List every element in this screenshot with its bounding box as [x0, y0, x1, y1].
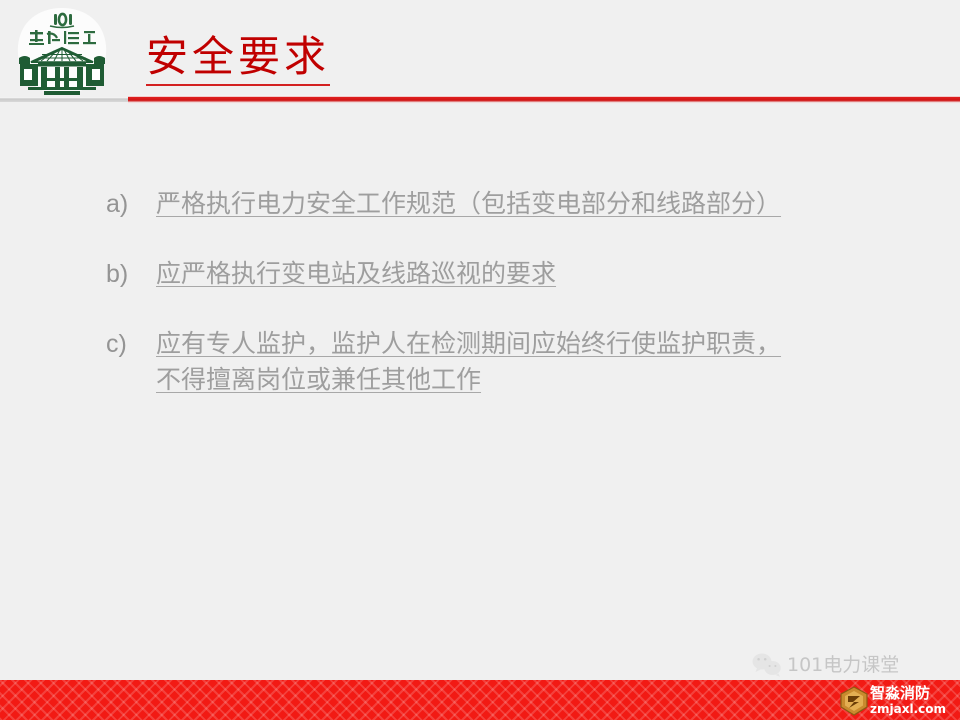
list-item-marker: a): [106, 186, 156, 222]
wechat-account-label: 101电力课堂: [787, 654, 899, 676]
course-logo-icon: [14, 6, 110, 98]
list-item: b) 应严格执行变电站及线路巡视的要求: [0, 256, 960, 292]
brand-watermark: 智淼消防 zmjaxl.com: [840, 681, 960, 720]
slide-header: 安全要求: [0, 0, 960, 100]
list-item-text: 严格执行电力安全工作规范（包括变电部分和线路部分）: [156, 186, 781, 222]
header-divider-red: [128, 95, 960, 104]
brand-text-group: 智淼消防 zmjaxl.com: [870, 686, 946, 715]
list-item-marker: c): [106, 326, 156, 362]
list-item: c) 应有专人监护，监护人在检测期间应始终行使监护职责，不得擅离岗位或兼任其他工…: [0, 326, 960, 398]
list-item-text: 应有专人监护，监护人在检测期间应始终行使监护职责，不得擅离岗位或兼任其他工作: [156, 326, 796, 398]
slide-canvas: 安全要求 a) 严格执行电力安全工作规范（包括变电部分和线路部分） b) 应严格…: [0, 0, 960, 720]
brand-url: zmjaxl.com: [870, 703, 946, 715]
brand-name: 智淼消防: [870, 686, 946, 701]
brand-logo-icon: [840, 686, 868, 716]
header-divider-gray: [0, 97, 128, 102]
list-item-text: 应严格执行变电站及线路巡视的要求: [156, 256, 556, 292]
list-item: a) 严格执行电力安全工作规范（包括变电部分和线路部分）: [0, 186, 960, 222]
safety-requirements-list: a) 严格执行电力安全工作规范（包括变电部分和线路部分） b) 应严格执行变电站…: [0, 186, 960, 432]
list-item-marker: b): [106, 256, 156, 292]
footer-red-band: [0, 680, 960, 720]
page-title: 安全要求: [146, 36, 330, 86]
wechat-icon: [752, 652, 782, 678]
wechat-watermark: 101电力课堂: [752, 652, 899, 678]
